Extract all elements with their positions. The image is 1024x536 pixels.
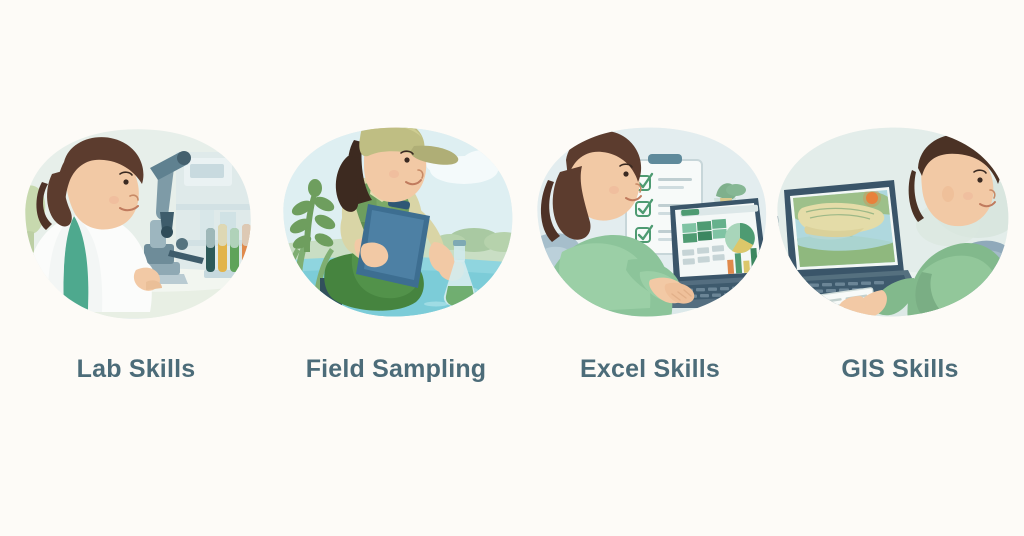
illustration-field-sampling: [268, 112, 524, 332]
panel-label-lab-skills: Lab Skills: [8, 355, 264, 384]
illustration-excel-skills: [522, 112, 778, 332]
panel-label-excel-skills: Excel Skills: [522, 355, 778, 384]
panel-field-sampling: Field Sampling: [268, 112, 524, 402]
panel-lab-skills: Lab Skills: [8, 112, 264, 402]
illustration-gis-skills: [772, 112, 1024, 332]
panel-label-gis-skills: GIS Skills: [772, 355, 1024, 384]
panel-excel-skills: Excel Skills: [522, 112, 778, 402]
illustration-canvas: Lab Skills: [0, 0, 1024, 536]
panel-gis-skills: GIS Skills: [772, 112, 1024, 402]
panel-label-field-sampling: Field Sampling: [268, 355, 524, 384]
illustration-lab-skills: [8, 112, 264, 332]
